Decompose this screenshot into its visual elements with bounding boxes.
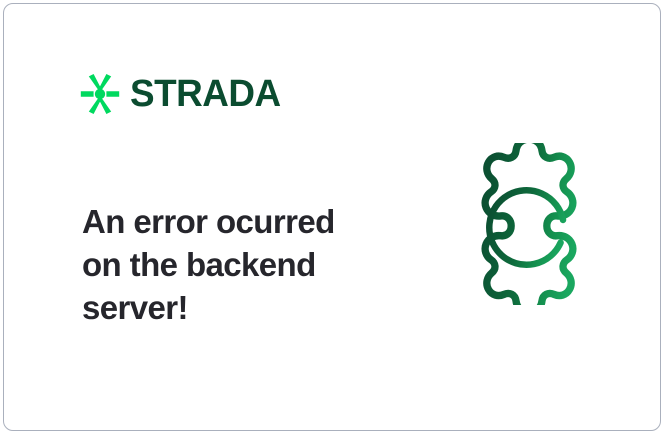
error-card: STRADA An error ocurred on the backend s… <box>3 3 661 431</box>
brand-wordmark: STRADA <box>130 75 281 113</box>
gear-cog-icon <box>448 143 610 305</box>
strada-asterisk-icon <box>80 74 120 114</box>
brand-logo: STRADA <box>80 74 285 114</box>
error-message: An error ocurred on the backend server! <box>82 200 382 329</box>
